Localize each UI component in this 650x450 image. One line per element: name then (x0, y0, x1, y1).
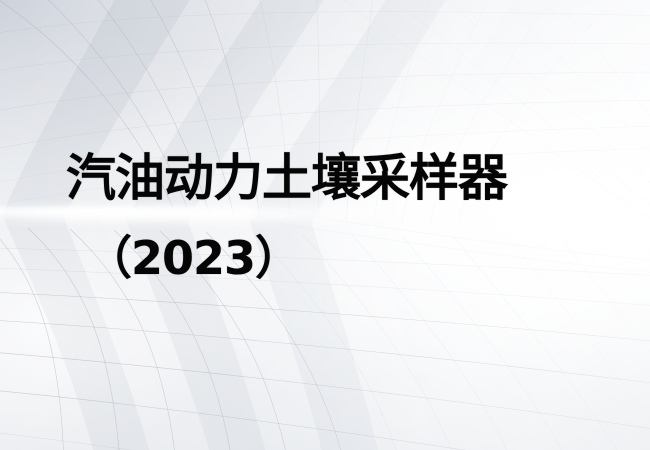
title-slide: 汽油动力土壤采样器 （2023） (0, 0, 650, 450)
slide-subtitle-year: （2023） (86, 231, 300, 285)
title-block: 汽油动力土壤采样器 （2023） (0, 0, 650, 450)
slide-title: 汽油动力土壤采样器 (66, 149, 507, 207)
